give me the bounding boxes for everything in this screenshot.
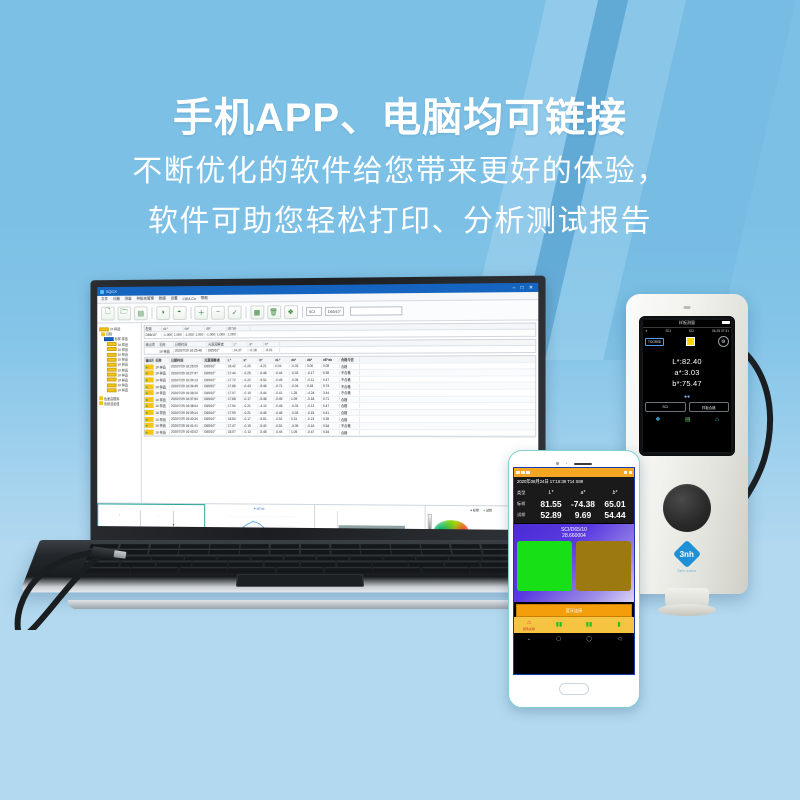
- grid-body[interactable]: ●1# 样品2020/7/29 16:26:09D65/10°18.42-0.2…: [145, 363, 536, 437]
- menu-item-file[interactable]: 文件: [101, 297, 108, 302]
- grid-cell-output: ●: [145, 423, 155, 428]
- keyboard-key[interactable]: [120, 543, 150, 548]
- device-screen-frame: 样板测量 ✶ SCI SCI 06-25 07:31 TOGR08 ⚙ L*:8…: [639, 316, 735, 456]
- grid-cell-db: -0.17: [306, 371, 322, 375]
- grid-cell-l: 18.42: [227, 365, 243, 369]
- phone-data-area: 2020年08月24日 17:16:38 T14 S89 类型 L* a* b*…: [514, 477, 634, 523]
- grid-cell-l: 17.94: [227, 404, 243, 408]
- grid-cell-de: 0.41: [322, 411, 340, 415]
- keyboard-key[interactable]: [331, 543, 360, 548]
- grid-cell-da: -0.04: [290, 384, 306, 388]
- grid-cell-output: ●: [145, 391, 155, 396]
- grid-cell-datetime: 2020/7/29 16:36:24: [170, 391, 203, 395]
- std-col-db: db*: [205, 326, 227, 330]
- grid-cell-db: -4.24: [306, 391, 322, 395]
- grid-cell-name: 1# 样品: [154, 397, 170, 402]
- battery-icon: [722, 321, 730, 325]
- device-brand-logo: 3nh 3nh color: [677, 544, 697, 573]
- grid-cell-datetime: 2020/7/29 16:34:45: [170, 384, 203, 388]
- keyboard-key[interactable]: [331, 549, 360, 554]
- grid-cell-da: -0.03: [290, 411, 306, 415]
- laptop-base-front-edge: [68, 600, 534, 609]
- grid-col-a: a*: [243, 358, 259, 362]
- illuminant-select[interactable]: D65/10°: [325, 307, 344, 316]
- grid-cell-db: -0.47: [306, 430, 322, 434]
- grid-cell-da: -0.03: [290, 364, 306, 368]
- measurement-data-grid[interactable]: 输出项 名称 日期时间 光源观察者 L* a* b* dL* da* db* d…: [144, 355, 537, 438]
- grid-cell-illum: D65/10°: [203, 371, 227, 375]
- grid-cell-output: ●: [145, 371, 155, 376]
- grid-col-pass: 合格与否: [340, 357, 360, 362]
- grid-cell-name: 1# 样品: [154, 364, 170, 369]
- keyboard-key[interactable]: [325, 568, 372, 573]
- grid-cell-db: 0.18: [306, 384, 322, 388]
- standard-tolerance-panel: 配置 dL* da* db* dE*ab D65/10° -1.000 1.00…: [144, 322, 537, 338]
- phone-swatch-area: SCI/D65/10 28.660004: [514, 524, 634, 602]
- device-status-left: SCI: [666, 329, 671, 333]
- grid-cell-a: -0.20: [243, 365, 259, 369]
- device-button-row[interactable]: SCI 样板合格: [643, 402, 731, 412]
- grid-cell-dl: -0.49: [274, 378, 290, 382]
- grid-cell-de: 0.05: [322, 364, 340, 368]
- keyboard-key[interactable]: [361, 549, 390, 554]
- grid-cell-pass: 不合格: [340, 390, 360, 395]
- grid-cell-de: 0.54: [322, 430, 340, 434]
- trend-line-chart[interactable]: ● dE*ab: [205, 504, 314, 530]
- grid-cell-a: -0.43: [243, 384, 259, 388]
- grid-cell-a: -0.22: [243, 378, 259, 382]
- grid-col-da: da*: [290, 358, 306, 362]
- home-icon: ⌂: [527, 620, 531, 626]
- grid-cell-de: 0.39: [322, 417, 340, 421]
- grid-cell-da: 1.09: [290, 397, 306, 401]
- svg-text:b*: b*: [119, 514, 121, 516]
- phone-screen[interactable]: 2020年08月24日 17:16:38 T14 S89 类型 L* a* b*…: [513, 467, 635, 675]
- software-main-pane: 配置 dL* da* db* dE*ab D65/10° -1.000 1.00…: [142, 320, 539, 505]
- device-b-value: b*:75.47: [643, 378, 731, 389]
- keyboard-key[interactable]: [270, 549, 299, 554]
- menu-item-data[interactable]: 数据: [159, 296, 166, 301]
- grid-cell-db: -0.18: [306, 397, 322, 401]
- physical-home-button[interactable]: [559, 683, 589, 695]
- device-lab-values: L*:82.40 a*:3.03 b*:75.47: [643, 356, 731, 389]
- keyboard-key[interactable]: [317, 555, 349, 560]
- phone-sample-row: 试样 52.89 9.69 54.44: [517, 509, 631, 520]
- grid-cell-de: 0.35: [322, 371, 340, 375]
- delete-measure-icon[interactable]: −: [211, 305, 225, 319]
- keyboard-key[interactable]: [179, 549, 209, 554]
- keyboard-key[interactable]: [240, 543, 269, 548]
- color-settings-icon[interactable]: ❖: [284, 305, 298, 319]
- grid-cell-b: -5.51: [258, 417, 274, 421]
- smp-col-spacer: [280, 342, 535, 343]
- laptop-keyboard[interactable]: [82, 543, 518, 572]
- bluetooth-connect-button[interactable]: 蓝牙连接: [516, 604, 632, 617]
- grid-cell-db: -0.12: [306, 404, 322, 408]
- device-pass-button[interactable]: 样板合格: [689, 402, 730, 412]
- observer-mode-select[interactable]: SCI: [306, 307, 322, 316]
- grid-cell-name: 1# 样品: [154, 384, 170, 389]
- reflectance-chart[interactable]: nm: [314, 505, 425, 530]
- keyboard-key[interactable]: [240, 549, 269, 554]
- keyboard-key[interactable]: [449, 555, 482, 560]
- keyboard-key[interactable]: [350, 555, 382, 560]
- keyboard-key[interactable]: [271, 543, 300, 548]
- smp-val-a: -0.18: [248, 348, 264, 352]
- close-button[interactable]: ✕: [529, 284, 533, 290]
- grid-cell-spacer: [360, 366, 535, 367]
- grid-cell-output: ●: [145, 404, 155, 409]
- grid-cell-a: -0.19: [243, 391, 259, 395]
- laptop-trackpad[interactable]: [236, 574, 364, 586]
- tree-chip-icon: [107, 388, 117, 392]
- keyboard-key[interactable]: [131, 568, 179, 573]
- device-measuring-base: [658, 604, 716, 616]
- standard-panel-row[interactable]: D65/10° -1.000 1.000 -1.000 1.000 -1.000…: [145, 330, 536, 338]
- sample-color-swatch: [576, 541, 631, 591]
- grid-cell-output: ●: [145, 377, 155, 382]
- nav-recents-button[interactable]: ▢: [556, 636, 561, 642]
- tree-folder-label: 归档: [106, 332, 112, 337]
- save-icon[interactable]: ▤: [134, 306, 148, 320]
- grid-cell-b: -5.46: [258, 371, 274, 375]
- keyboard-key[interactable]: [179, 568, 227, 573]
- standard-color-swatch: [517, 541, 572, 591]
- keyboard-key[interactable]: [391, 549, 421, 554]
- keyboard-row[interactable]: [86, 555, 515, 560]
- keyboard-key[interactable]: [265, 561, 300, 566]
- wifi-icon: [521, 471, 525, 475]
- keyboard-key[interactable]: [373, 568, 421, 573]
- device-sci-button[interactable]: SCI: [645, 402, 686, 412]
- std-val-5: -1.000: [205, 333, 216, 337]
- smp-col-illum: 光源观察者: [207, 341, 233, 346]
- smp-row-spacer: [280, 349, 535, 350]
- home-icon[interactable]: ⌂: [715, 417, 719, 423]
- grid-cell-dl: -0.44: [274, 371, 290, 375]
- menu-item-sample-manage[interactable]: 样板夹管理: [136, 296, 153, 301]
- grid-col-db: db*: [306, 358, 322, 362]
- grid-cell-dl: -0.45: [274, 404, 290, 408]
- phone-standard-b: 65.01: [599, 499, 631, 509]
- device-bottom-icon-row[interactable]: ❖ ▤ ⌂: [643, 416, 731, 423]
- grid-cell-b: -5.40: [258, 424, 274, 428]
- std-row-spacer: [238, 333, 536, 335]
- tree-chip-icon: [107, 347, 117, 351]
- tab-color-link-label: 颜色关联: [523, 627, 535, 631]
- grid-cell-datetime: 2020/7/29 16:34:13: [170, 378, 203, 382]
- check-icon[interactable]: ✓: [228, 305, 242, 319]
- keyboard-key[interactable]: [444, 561, 480, 566]
- grid-cell-db: -0.16: [306, 424, 322, 428]
- grid-cell-pass: 不合格: [340, 377, 360, 382]
- tree-chip-icon: [107, 358, 117, 362]
- menu-item-help[interactable]: 帮助: [201, 296, 208, 301]
- grid-cell-l: 17.44: [227, 371, 243, 375]
- window-title: SQCX: [106, 289, 117, 294]
- signal-icon: [516, 471, 520, 475]
- laptop-lid: SQCX – □ ✕ 文件 仪器 测量 样板夹管理 数据 设置 CIE/LCh …: [91, 276, 546, 547]
- keyboard-key[interactable]: [421, 543, 451, 548]
- keyboard-key[interactable]: [185, 555, 217, 560]
- laptop-screen: SQCX – □ ✕ 文件 仪器 测量 样板夹管理 数据 设置 CIE/LCh …: [97, 283, 538, 530]
- cie-legend-standard: ● 标样: [470, 508, 479, 512]
- search-input[interactable]: [350, 306, 402, 315]
- keyboard-key[interactable]: [210, 543, 239, 548]
- bluetooth-icon: ✶: [645, 329, 648, 333]
- grid-cell-name: 1# 样品: [154, 404, 170, 409]
- tab-list[interactable]: ▮▮: [574, 617, 604, 633]
- menu-item-cie-lch[interactable]: CIE/LCh: [183, 297, 196, 301]
- grid-cell-datetime: 2020/7/29 16:39:14: [170, 411, 203, 415]
- app-logo-icon: [100, 290, 104, 294]
- keyboard-key[interactable]: [218, 555, 250, 560]
- smp-val-b: -5.01: [264, 348, 280, 352]
- sample-measure-icon[interactable]: ◓: [172, 306, 186, 320]
- grid-cell-output: ●: [145, 397, 155, 402]
- keyboard-row[interactable]: [84, 561, 516, 566]
- grid-cell-name: 1# 样品: [154, 371, 170, 376]
- keyboard-key[interactable]: [391, 543, 420, 548]
- keyboard-row[interactable]: [82, 568, 518, 573]
- keyboard-key[interactable]: [209, 549, 238, 554]
- tree-chip-icon: [107, 378, 117, 382]
- smartphone: 2020年08月24日 17:16:38 T14 S89 类型 L* a* b*…: [508, 450, 640, 708]
- keyboard-key[interactable]: [82, 568, 130, 573]
- grid-cell-b: -5.48: [258, 397, 274, 401]
- grid-cell-illum: D65/10°: [203, 397, 227, 401]
- keyboard-key[interactable]: [192, 561, 227, 566]
- grid-cell-pass: 合格: [340, 364, 360, 369]
- window-controls[interactable]: – □ ✕: [513, 284, 536, 290]
- keyboard-key[interactable]: [301, 543, 330, 548]
- grid-cell-de: 0.47: [322, 378, 340, 382]
- app-status-right-icons: [624, 471, 633, 475]
- brand-text: 3nh color: [677, 568, 697, 573]
- keyboard-key[interactable]: [361, 543, 390, 548]
- standard-measure-icon[interactable]: ◑: [156, 306, 170, 320]
- std-val-config: D65/10°: [145, 333, 163, 337]
- grid-cell-a: -0.17: [243, 417, 259, 421]
- grid-cell-output: ●: [145, 364, 155, 369]
- keyboard-key[interactable]: [373, 561, 408, 566]
- keyboard-key[interactable]: [383, 555, 415, 560]
- device-chip-row: TOGR08 ⚙: [643, 333, 731, 347]
- add-icon[interactable]: ＋: [194, 305, 208, 319]
- grid-col-b: b*: [258, 358, 274, 362]
- smp-val-l: 14.37: [233, 348, 249, 352]
- keyboard-key[interactable]: [152, 555, 184, 560]
- maximize-button[interactable]: □: [521, 284, 524, 290]
- chromaticity-blob: [434, 520, 469, 530]
- phone-standard-label: 标样: [517, 501, 535, 507]
- grid-cell-de: 0.47: [322, 404, 340, 408]
- folder-icon: [99, 402, 103, 405]
- tree-chip-icon: [107, 342, 117, 346]
- open-icon[interactable]: 🗁: [118, 306, 132, 320]
- grid-cell-da: -0.09: [290, 424, 306, 428]
- tab-color-link[interactable]: ⌂ 颜色关联: [514, 617, 544, 633]
- page-indicator-dots[interactable]: ●●: [643, 394, 731, 400]
- keyboard-row[interactable]: [89, 543, 510, 548]
- keyboard-key[interactable]: [301, 561, 336, 566]
- tree-system-label: 系统设定值: [104, 401, 119, 406]
- grid-cell-illum: D65/10°: [203, 384, 227, 388]
- keyboard-key[interactable]: [337, 561, 372, 566]
- brand-mark-text: 3nh: [680, 549, 694, 558]
- keyboard-key[interactable]: [180, 543, 209, 548]
- lightness-scale: [427, 514, 431, 530]
- book-icon[interactable]: ▤: [685, 416, 691, 423]
- grid-cell-pass: 合格: [340, 397, 360, 402]
- grid-cell-pass: 不合格: [340, 423, 360, 428]
- std-col-da: da*: [184, 326, 206, 330]
- keyboard-key[interactable]: [84, 561, 120, 566]
- keyboard-key[interactable]: [481, 543, 511, 548]
- chart-icon[interactable]: ▦: [250, 305, 264, 319]
- android-nav-bar[interactable]: ⌄ ▢ ◯ ◁: [514, 633, 634, 644]
- grid-cell-da: 1.05: [290, 430, 306, 434]
- keyboard-key[interactable]: [150, 543, 180, 548]
- phone-delta-e-value: 28.660004: [517, 533, 631, 539]
- keyboard-key[interactable]: [422, 549, 452, 554]
- grid-col-l: L*: [227, 358, 243, 362]
- tree-selected-chip-icon: [104, 337, 114, 341]
- grid-cell-a: -0.13: [243, 430, 259, 434]
- keyboard-key[interactable]: [451, 543, 481, 548]
- grid-cell-b: -5.46: [258, 411, 274, 415]
- grid-cell-da: 0.31: [290, 417, 306, 421]
- keyboard-row[interactable]: [88, 549, 513, 554]
- device-status-mid: SCI: [689, 329, 694, 333]
- grid-cell-da: -0.02: [290, 371, 306, 375]
- tab-user[interactable]: ▮: [604, 617, 634, 633]
- grid-cell-name: 1# 样品: [154, 430, 170, 435]
- menu-item-instrument[interactable]: 仪器: [113, 297, 120, 302]
- gear-icon[interactable]: ⚙: [718, 336, 729, 347]
- bluetooth-icon: [526, 471, 530, 475]
- device-sample-chip[interactable]: TOGR08: [645, 338, 664, 346]
- grid-cell-dl: 0.04: [274, 364, 290, 368]
- headline-sub-line2: 软件可助您轻松打印、分析测试报告: [0, 200, 800, 244]
- tree-system-settings[interactable]: 系统设定值: [99, 401, 139, 406]
- sample-summary-panel: 输出项 名称 日期时间 光源观察者 L* a* b* 1# 样品: [144, 339, 537, 355]
- std-val-1: -1.000: [162, 333, 173, 337]
- grid-cell-l: 17.68: [227, 397, 243, 401]
- headline-block: 手机APP、电脑均可链接 不断优化的软件给您带来更好的体验， 软件可助您轻松打印…: [0, 92, 800, 244]
- proximity-sensor-icon: [566, 463, 568, 465]
- menu-item-measure[interactable]: 测量: [125, 297, 132, 302]
- menu-item-settings[interactable]: 设置: [171, 296, 178, 301]
- color-icon[interactable]: ❖: [655, 416, 660, 423]
- std-val-6: 1.000: [216, 333, 227, 337]
- software-body: 1# 样品 归档 标样 样品 1# 样品1# 样品1# 样品1# 样品1# 样品…: [97, 320, 538, 505]
- smp-val-illum: D65/10°: [207, 348, 233, 352]
- grid-cell-output: ●: [145, 410, 155, 415]
- grid-cell-dl: -0.71: [274, 384, 290, 388]
- keyboard-key[interactable]: [301, 549, 330, 554]
- device-screen[interactable]: 样板测量 ✶ SCI SCI 06-25 07:31 TOGR08 ⚙ L*:8…: [643, 320, 731, 452]
- grid-cell-a: -0.21: [243, 404, 259, 408]
- charts-row: b*+ a* ● dE*ab: [97, 502, 538, 530]
- grid-col-datetime: 日期时间: [170, 358, 203, 363]
- sample-panel-row[interactable]: 1# 样品 2020/7/29 16:25:48 D65/10° 14.37 -…: [145, 346, 536, 354]
- grid-cell-illum: D65/10°: [203, 430, 227, 434]
- grid-cell-pass: 合格: [340, 417, 360, 422]
- phone-sample-l: 52.89: [535, 510, 567, 520]
- smp-col-output: 输出项: [145, 342, 159, 347]
- tree-children-list[interactable]: 1# 样品1# 样品1# 样品1# 样品1# 样品1# 样品1# 样品1# 样品…: [99, 342, 139, 393]
- keyboard-key[interactable]: [228, 568, 275, 573]
- trash-icon[interactable]: 🗑: [267, 305, 281, 319]
- new-document-icon[interactable]: 🗋: [101, 306, 115, 320]
- keyboard-key[interactable]: [120, 561, 156, 566]
- nav-collapse-button[interactable]: ⌄: [527, 636, 531, 642]
- tab-chart[interactable]: ▮▮: [544, 617, 574, 633]
- phone-tab-bar[interactable]: ⌂ 颜色关联 ▮▮ ▮▮ ▮: [514, 617, 634, 633]
- phone-standard-l: 81.55: [535, 499, 567, 509]
- keyboard-key[interactable]: [228, 561, 263, 566]
- phone-standard-a: -74.38: [567, 499, 599, 509]
- device-screen-title: 样板测量: [643, 320, 731, 328]
- keyboard-key[interactable]: [251, 555, 283, 560]
- measurement-timestamp: 2020年08月24日 17:16:38 T14 S89: [517, 479, 631, 485]
- grid-cell-illum: D65/10°: [203, 365, 227, 369]
- ab-scatter-chart[interactable]: b*+ a*: [97, 503, 205, 530]
- std-val-7: 1.000: [227, 332, 238, 336]
- grid-cell-a: -0.19: [243, 424, 259, 428]
- grid-cell-a: -0.21: [243, 411, 259, 415]
- tree-chip-icon: [107, 352, 117, 356]
- grid-cell-illum: D65/10°: [203, 411, 227, 415]
- keyboard-key[interactable]: [408, 561, 443, 566]
- std-col-spacer: [250, 326, 535, 328]
- grid-cell-output: ●: [145, 384, 155, 389]
- keyboard-key[interactable]: [284, 555, 316, 560]
- keyboard-key[interactable]: [148, 549, 178, 554]
- smp-col-name: 名称: [158, 342, 174, 347]
- keyboard-key[interactable]: [156, 561, 191, 566]
- keyboard-key[interactable]: [276, 568, 323, 573]
- headline-sub-line1: 不断优化的软件给您带来更好的体验，: [0, 150, 800, 194]
- tree-chip-icon: [107, 383, 117, 387]
- phone-sample-b: 54.44: [599, 510, 631, 520]
- front-camera-icon: [556, 462, 559, 465]
- grid-cell-dl: -0.51: [274, 417, 290, 421]
- grid-col-illum: 光源观察者: [203, 358, 227, 363]
- chart-icon: ▮▮: [556, 622, 563, 628]
- brand-mark-icon: 3nh: [673, 540, 701, 568]
- table-row[interactable]: ●1# 样品2020/7/29 16:43:02D65/10°18.07-0.1…: [145, 429, 536, 436]
- keyboard-key[interactable]: [416, 555, 448, 560]
- grid-cell-datetime: 2020/7/29 16:43:02: [170, 430, 203, 434]
- nav-back-button[interactable]: ◁: [617, 636, 621, 642]
- sample-tree-sidebar[interactable]: 1# 样品 归档 标样 样品 1# 样品1# 样品1# 样品1# 样品1# 样品…: [97, 323, 142, 503]
- tree-child-node[interactable]: 1# 样品: [99, 388, 139, 393]
- device-measure-knob[interactable]: [663, 484, 711, 532]
- std-val-2: 1.000: [173, 333, 184, 337]
- app-status-left-icons: [516, 471, 530, 475]
- phone-sample-label: 试样: [517, 512, 535, 518]
- keyboard-key[interactable]: [452, 549, 482, 554]
- grid-cell-a: -0.17: [243, 397, 259, 401]
- keyboard-key[interactable]: [421, 568, 469, 573]
- smp-col-a: a*: [248, 342, 264, 346]
- nav-home-button[interactable]: ◯: [586, 636, 592, 642]
- minimize-button[interactable]: –: [513, 285, 516, 291]
- grid-cell-datetime: 2020/7/29 16:40:34: [170, 417, 203, 421]
- phone-lab-table: 类型 L* a* b* 标样 81.55 -74.38 65.01 试样 52.…: [517, 487, 631, 520]
